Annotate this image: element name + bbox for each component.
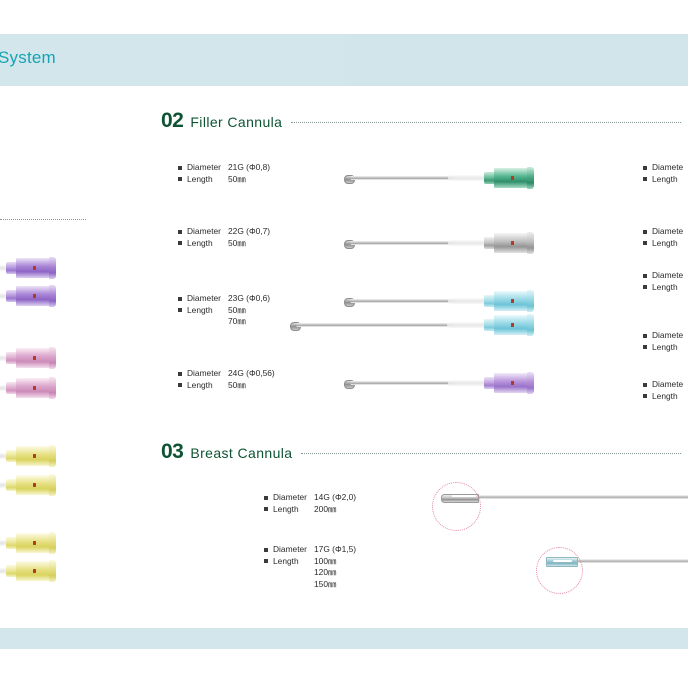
- hub-flange: [49, 445, 56, 467]
- spec-value-diameter: 24G (Φ0,56): [228, 368, 275, 380]
- left-cannula-3: [0, 345, 68, 371]
- left-cannula-5: [0, 443, 68, 469]
- spec-key-diameter: Diamete: [652, 226, 683, 238]
- bullet-icon: [264, 559, 268, 563]
- bullet-icon: [264, 496, 268, 500]
- spec-value-diameter: 22G (Φ0,7): [228, 226, 270, 238]
- spec-key-length: Length: [273, 504, 314, 516]
- spec-row-length: Length 50㎜: [178, 305, 270, 317]
- cannula-hub-yellow: [6, 533, 56, 553]
- bullet-icon: [178, 166, 182, 170]
- bullet-icon: [643, 177, 647, 181]
- spec-key-diameter: Diameter: [187, 226, 228, 238]
- spec-key-diameter: Diameter: [187, 162, 228, 174]
- bullet-icon: [643, 334, 647, 338]
- spec-row-diameter: Diameter 17G (Φ1,5): [264, 544, 356, 556]
- spec-row-diameter: Diamete: [643, 379, 688, 391]
- hub-marker-dot: [33, 541, 36, 545]
- hub-flange: [49, 532, 56, 554]
- cannula-shaft: [350, 381, 455, 385]
- cannula-hub-blue: [484, 291, 534, 311]
- hub-marker-dot: [33, 483, 36, 487]
- spec-row-diameter: Diameter 23G (Φ0,6): [178, 293, 270, 305]
- bullet-icon: [643, 394, 647, 398]
- spec-row-diameter: Diameter 14G (Φ2,0): [264, 492, 356, 504]
- cannula-hub-green: [484, 168, 534, 188]
- page-title: System: [0, 48, 56, 68]
- spec-row-length: Length 50㎜: [178, 238, 270, 250]
- cannula-shaft: [296, 323, 454, 327]
- right-spec-block-1: Diamete Length: [643, 162, 688, 185]
- spec-value-length: 200㎜: [314, 504, 336, 516]
- hub-marker-dot: [33, 356, 36, 360]
- right-spec-block-5: Diamete Length: [643, 379, 688, 402]
- hub-flange: [49, 257, 56, 279]
- spec-key-length: Length: [652, 391, 678, 403]
- spec-key-diameter: Diamete: [652, 162, 683, 174]
- spec-row-diameter: Diamete: [643, 226, 688, 238]
- bullet-icon: [178, 308, 182, 312]
- spec-row-diameter: Diameter 22G (Φ0,7): [178, 226, 270, 238]
- spec-row-diameter: Diameter 24G (Φ0,56): [178, 368, 275, 380]
- hub-marker-dot: [33, 294, 36, 298]
- spec-row-diameter: Diameter 21G (Φ0,8): [178, 162, 270, 174]
- spec-row-length: Length: [643, 342, 688, 354]
- cannula-hub-pink: [6, 348, 56, 368]
- spec-row-length: Length: [643, 282, 688, 294]
- cannula-shaft: [350, 299, 455, 303]
- catalog-page: System 02 Filler Cannula Diameter 21G (Φ…: [0, 0, 688, 688]
- spec-value-length: 100㎜: [314, 556, 336, 568]
- hub-flange: [49, 285, 56, 307]
- spec-key-length: Length: [273, 556, 314, 568]
- spec-value-length: 50㎜: [228, 174, 246, 186]
- cannula-hub-violet: [484, 373, 534, 393]
- cannula-shaft: [446, 495, 688, 499]
- hub-flange: [527, 372, 534, 394]
- bullet-icon: [643, 345, 647, 349]
- spec-key-diameter: Diameter: [273, 492, 314, 504]
- left-cannula-2: [0, 283, 68, 309]
- spec-value-length-alt-2: 150㎜: [314, 579, 356, 591]
- section-name: Filler Cannula: [190, 114, 282, 130]
- bullet-icon: [178, 383, 182, 387]
- spec-key-length: Length: [652, 174, 678, 186]
- spec-value-diameter: 21G (Φ0,8): [228, 162, 270, 174]
- right-spec-block-2: Diamete Length: [643, 226, 688, 249]
- hub-flange: [527, 314, 534, 336]
- bullet-icon: [178, 177, 182, 181]
- hub-marker-dot: [511, 176, 514, 180]
- hub-marker-dot: [511, 323, 514, 327]
- left-cannula-7: [0, 530, 68, 556]
- cannula-hub-purple: [6, 286, 56, 306]
- cannula-shaft: [350, 241, 455, 245]
- bullet-icon: [643, 230, 647, 234]
- right-spec-block-3: Diamete Length: [643, 270, 688, 293]
- bullet-icon: [178, 372, 182, 376]
- footer-band: [0, 628, 688, 649]
- spec-row-length: Length 50㎜: [178, 380, 275, 392]
- spec-block-21g: Diameter 21G (Φ0,8) Length 50㎜: [178, 162, 270, 185]
- cannula-hub-pink: [6, 378, 56, 398]
- section-name: Breast Cannula: [190, 445, 292, 461]
- spec-row-length: Length: [643, 391, 688, 403]
- spec-value-length: 50㎜: [228, 380, 246, 392]
- section-heading-filler-cannula: 02 Filler Cannula: [161, 109, 681, 133]
- spec-block-14g: Diameter 14G (Φ2,0) Length 200㎜: [264, 492, 356, 515]
- hub-flange: [527, 290, 534, 312]
- hub-flange: [49, 560, 56, 582]
- hub-marker-dot: [33, 454, 36, 458]
- bullet-icon: [643, 241, 647, 245]
- spec-key-diameter: Diameter: [187, 293, 228, 305]
- hub-marker-dot: [33, 266, 36, 270]
- hub-marker-dot: [33, 569, 36, 573]
- spec-block-17g: Diameter 17G (Φ1,5) Length 100㎜ 120㎜ 150…: [264, 544, 356, 590]
- cannula-hub-purple: [6, 258, 56, 278]
- hub-flange: [49, 347, 56, 369]
- spec-value-length: 50㎜: [228, 238, 246, 250]
- spec-key-length: Length: [652, 282, 678, 294]
- spec-value-length: 50㎜: [228, 305, 246, 317]
- detail-callout-circle: [432, 482, 481, 531]
- spec-value-diameter: 23G (Φ0,6): [228, 293, 270, 305]
- bullet-icon: [264, 507, 268, 511]
- bullet-icon: [178, 241, 182, 245]
- spec-key-diameter: Diameter: [187, 368, 228, 380]
- cannula-hub-gray: [484, 233, 534, 253]
- spec-row-length: Length: [643, 174, 688, 186]
- section-heading-breast-cannula: 03 Breast Cannula: [161, 440, 681, 464]
- spec-key-diameter: Diamete: [652, 379, 683, 391]
- spec-key-length: Length: [187, 238, 228, 250]
- left-cannula-6: [0, 472, 68, 498]
- section-leader-dots: [291, 121, 681, 123]
- left-cannula-1: [0, 255, 68, 281]
- section-leader-dots: [301, 452, 681, 454]
- section-number: 03: [161, 440, 183, 464]
- spec-value-diameter: 14G (Φ2,0): [314, 492, 356, 504]
- right-spec-block-4: Diamete Length: [643, 330, 688, 353]
- cannula-illustration-22g: [344, 230, 516, 256]
- bullet-icon: [643, 285, 647, 289]
- bullet-icon: [643, 383, 647, 387]
- spec-row-diameter: Diamete: [643, 270, 688, 282]
- bullet-icon: [264, 548, 268, 552]
- hub-marker-dot: [511, 381, 514, 385]
- hub-flange: [527, 167, 534, 189]
- spec-value-length-alt: 70㎜: [228, 316, 270, 328]
- cannula-illustration-23g-70mm: [290, 312, 516, 338]
- spec-row-length: Length: [643, 238, 688, 250]
- cannula-hub-yellow: [6, 561, 56, 581]
- spec-block-24g: Diameter 24G (Φ0,56) Length 50㎜: [178, 368, 275, 391]
- spec-key-length: Length: [187, 380, 228, 392]
- hub-marker-dot: [511, 299, 514, 303]
- spec-row-length: Length 50㎜: [178, 174, 270, 186]
- hub-marker-dot: [33, 386, 36, 390]
- cannula-illustration-23g-50mm: [344, 288, 516, 314]
- spec-row-diameter: Diamete: [643, 162, 688, 174]
- hub-flange: [49, 474, 56, 496]
- spec-row-length: Length 200㎜: [264, 504, 356, 516]
- hub-flange: [527, 232, 534, 254]
- left-cannula-8: [0, 558, 68, 584]
- spec-block-22g: Diameter 22G (Φ0,7) Length 50㎜: [178, 226, 270, 249]
- left-cannula-4: [0, 375, 68, 401]
- cannula-hub-yellow: [6, 446, 56, 466]
- spec-key-length: Length: [652, 238, 678, 250]
- spec-key-length: Length: [652, 342, 678, 354]
- spec-key-diameter: Diamete: [652, 330, 683, 342]
- cannula-hub-yellow: [6, 475, 56, 495]
- cannula-hub-blue: [484, 315, 534, 335]
- bullet-icon: [643, 274, 647, 278]
- section-number: 02: [161, 109, 183, 133]
- bullet-icon: [643, 166, 647, 170]
- cannula-shaft: [350, 176, 455, 180]
- spec-row-diameter: Diamete: [643, 330, 688, 342]
- cannula-illustration-24g: [344, 370, 516, 396]
- spec-row-length: Length 100㎜: [264, 556, 356, 568]
- bullet-icon: [178, 230, 182, 234]
- cannula-illustration-21g: [344, 165, 516, 191]
- hub-flange: [49, 377, 56, 399]
- bullet-icon: [178, 297, 182, 301]
- breast-cannula-illustration-14g: [432, 482, 688, 512]
- spec-value-diameter: 17G (Φ1,5): [314, 544, 356, 556]
- spec-key-diameter: Diamete: [652, 270, 683, 282]
- hub-marker-dot: [511, 241, 514, 245]
- spec-key-diameter: Diameter: [273, 544, 314, 556]
- spec-block-23g: Diameter 23G (Φ0,6) Length 50㎜ 70㎜: [178, 293, 270, 328]
- spec-key-length: Length: [187, 305, 228, 317]
- left-dotted-rule: [0, 219, 86, 220]
- spec-key-length: Length: [187, 174, 228, 186]
- breast-cannula-illustration-17g: [534, 546, 688, 576]
- spec-value-length-alt-1: 120㎜: [314, 567, 356, 579]
- detail-callout-circle: [536, 547, 583, 594]
